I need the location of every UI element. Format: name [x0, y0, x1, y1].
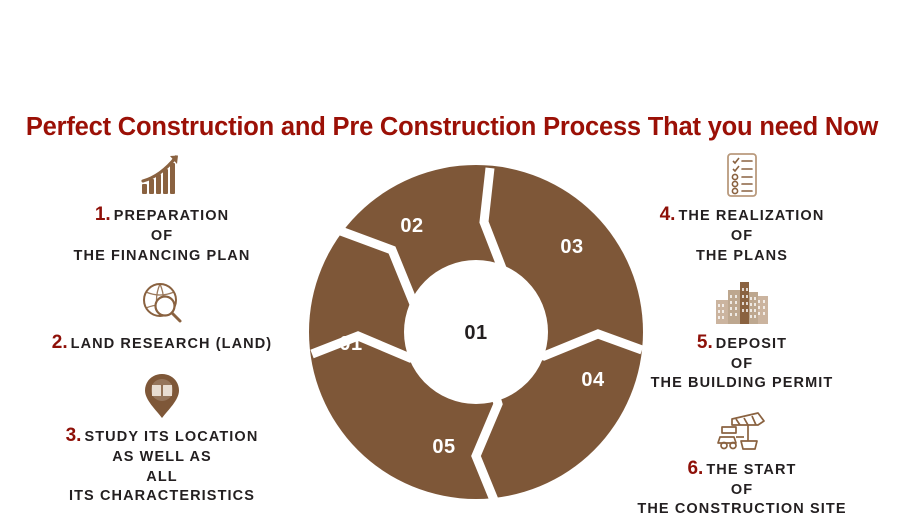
step-3-text: 3.STUDY ITS LOCATION AS WELL AS ALL ITS … [12, 423, 312, 506]
donut-label-02: 02 [400, 215, 423, 237]
step-1-line-2: OF [12, 227, 312, 246]
left-steps-column: 1.PREPARATION OF THE FINANCING PLAN 2.LA… [12, 152, 312, 512]
step-4-label: THE REALIZATION [678, 208, 824, 224]
step-1-line-1: 1.PREPARATION [12, 202, 312, 227]
donut-label-03: 03 [560, 236, 583, 258]
growth-bar-chart-icon [12, 152, 312, 198]
step-2-text: 2.LAND RESEARCH (LAND) [12, 330, 312, 355]
step-3-line-4: ITS CHARACTERISTICS [12, 487, 312, 506]
process-donut-chart: 01 02 03 04 05 01 [308, 164, 644, 500]
donut-center-label: 01 [464, 322, 487, 344]
step-6-number: 6. [687, 458, 703, 479]
step-2-number: 2. [52, 332, 68, 353]
globe-search-icon [12, 280, 312, 326]
step-5-label: DEPOSIT [716, 336, 787, 352]
donut-svg: 01 02 03 04 05 01 [308, 164, 644, 500]
donut-label-01: 01 [339, 333, 362, 355]
step-6-label: THE START [706, 462, 796, 478]
step-3-line-2: AS WELL AS [12, 448, 312, 467]
step-item-1[interactable]: 1.PREPARATION OF THE FINANCING PLAN [12, 152, 312, 266]
donut-label-05: 05 [432, 436, 455, 458]
step-item-3[interactable]: 3.STUDY ITS LOCATION AS WELL AS ALL ITS … [12, 373, 312, 506]
step-1-text: 1.PREPARATION OF THE FINANCING PLAN [12, 202, 312, 266]
step-5-number: 5. [697, 332, 713, 353]
step-4-number: 4. [660, 204, 676, 225]
step-1-number: 1. [95, 204, 111, 225]
step-1-line-3: THE FINANCING PLAN [12, 247, 312, 266]
step-6-line-3: THE CONSTRUCTION SITE [592, 500, 892, 519]
step-1-label: PREPARATION [114, 208, 229, 224]
step-2-line-1: 2.LAND RESEARCH (LAND) [12, 330, 312, 355]
step-3-line-3: ALL [12, 468, 312, 487]
page-title: Perfect Construction and Pre Constructio… [0, 113, 904, 142]
step-3-label: STUDY ITS LOCATION [84, 429, 258, 445]
step-3-number: 3. [66, 425, 82, 446]
donut-label-04: 04 [581, 369, 605, 391]
step-2-label: LAND RESEARCH (LAND) [71, 336, 273, 352]
map-pin-book-icon [12, 373, 312, 419]
step-3-line-1: 3.STUDY ITS LOCATION [12, 423, 312, 448]
step-item-2[interactable]: 2.LAND RESEARCH (LAND) [12, 280, 312, 355]
